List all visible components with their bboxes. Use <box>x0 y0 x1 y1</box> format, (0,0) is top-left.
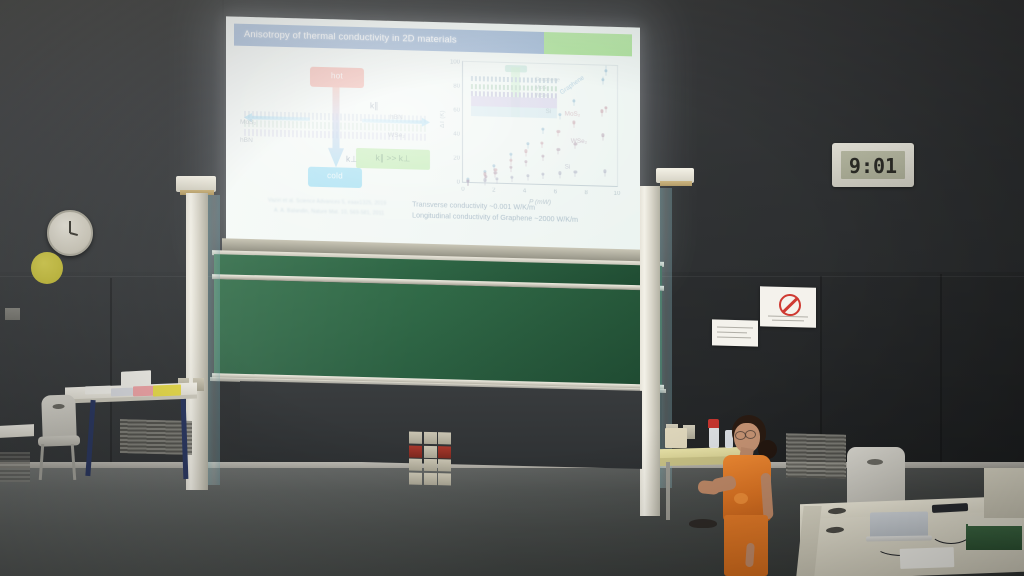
chart-y-tick: 0 <box>443 179 460 185</box>
chart-data-point <box>558 113 561 116</box>
presenter-hand-right <box>745 543 755 567</box>
socket[interactable] <box>409 472 422 484</box>
cold-label: cold <box>308 171 362 181</box>
chart-data-point <box>511 176 514 179</box>
chart-data-point <box>572 99 575 102</box>
chart-x-tick: 8 <box>585 190 588 196</box>
wall-seam <box>222 0 224 260</box>
socket[interactable] <box>424 445 437 457</box>
left-chair-back <box>41 394 77 441</box>
sign-text-line <box>717 332 747 334</box>
socket[interactable] <box>409 432 422 444</box>
k-relation-box: k∥ >> k⊥ <box>356 148 430 170</box>
sign-text-line <box>768 315 808 317</box>
projection-screen: Anisotropy of thermal conductivity in 2D… <box>226 16 640 255</box>
digital-clock-face: 9:01 <box>841 151 905 179</box>
green-chalkboard-main <box>214 279 662 387</box>
wall-small-box <box>5 308 20 320</box>
socket[interactable] <box>438 459 451 471</box>
digital-wall-clock: 9:01 <box>832 143 914 187</box>
socket-red[interactable] <box>409 445 422 457</box>
yellow-desk-leg <box>666 462 670 520</box>
k-relation-label: k∥ >> k⊥ <box>356 152 430 165</box>
inset-label-mos2: MoS₂ <box>535 85 549 91</box>
chart-data-point <box>557 148 560 151</box>
side-shelf <box>984 468 1024 518</box>
chart-data-point <box>509 159 512 162</box>
chart-y-tick: 40 <box>443 131 460 137</box>
material-label-wse2: WSe₂ <box>388 132 405 139</box>
sign-text-line <box>772 320 804 322</box>
chart-data-point <box>605 69 608 72</box>
chair-handle-hole <box>53 404 65 409</box>
chart-data-point <box>557 130 560 133</box>
paper-tray-grey <box>111 388 133 397</box>
chart-data-point <box>541 173 544 176</box>
socket[interactable] <box>424 459 437 471</box>
presenter <box>690 415 800 576</box>
presenter-hand-left <box>697 480 720 495</box>
inset-label-graphene: Graphene <box>535 77 560 84</box>
wall-yellow-disc <box>31 252 63 284</box>
chart-series-label-wse: WSe₂ <box>571 138 587 145</box>
chart-data-point <box>605 106 608 109</box>
screen-column-trim-right <box>660 181 692 186</box>
inset-silicon-layer: Si <box>471 106 557 118</box>
chart-series-label-si: Si <box>565 163 571 170</box>
chart-y-tick: 20 <box>443 155 460 161</box>
chart-data-point <box>541 127 544 130</box>
left-table-secondary <box>0 424 34 438</box>
chart-data-point <box>558 171 561 174</box>
chart-data-point <box>466 180 469 183</box>
chart-data-point <box>603 170 606 173</box>
desk-papers <box>900 547 955 569</box>
inset-label-wse2: WSe₂ <box>535 93 549 99</box>
chart-series-label-graphene: Graphene <box>559 74 586 96</box>
chair-handle-hole <box>867 459 883 465</box>
chart-data-point <box>600 110 603 113</box>
socket[interactable] <box>424 432 437 444</box>
laptop-screen[interactable] <box>870 511 928 538</box>
socket-red[interactable] <box>438 446 451 458</box>
folder-yellow <box>153 385 181 397</box>
chart-data-point <box>540 142 543 145</box>
presenter-glasses <box>745 430 756 439</box>
chart-data-point <box>574 171 577 174</box>
chart-x-tick: 4 <box>523 188 526 194</box>
chart-x-tick: 0 <box>461 187 464 193</box>
wall-seam <box>940 274 942 466</box>
hot-source-box: hot <box>310 67 364 88</box>
wall-vent-corner <box>0 452 30 482</box>
sign-text-line <box>717 327 753 329</box>
chart-x-tick: 6 <box>554 189 557 195</box>
presenter-shoe <box>689 519 717 528</box>
chart-data-point <box>541 155 544 158</box>
chart-x-tick: 10 <box>614 191 621 197</box>
chart-inset-schematic: Si Graphene MoS₂ WSe₂ <box>469 66 561 122</box>
inset-si-label: Si <box>546 109 551 115</box>
chart-y-tick: 100 <box>443 59 460 65</box>
wall-socket-grid[interactable] <box>409 432 451 485</box>
paper-stack-white <box>85 386 111 395</box>
chart-data-point <box>572 121 575 124</box>
material-label-mos2: MoS₂ <box>240 119 256 126</box>
analog-wall-clock <box>47 210 93 256</box>
socket[interactable] <box>424 472 437 484</box>
chart-data-point <box>602 78 605 81</box>
chart-data-point <box>602 134 605 137</box>
material-label-hbn-right: hBN <box>390 114 403 121</box>
no-smoking-sign <box>760 286 816 327</box>
hot-label: hot <box>310 71 364 81</box>
chart-data-point <box>494 171 497 174</box>
chart-plot-area: Si Graphene MoS₂ WSe₂ ΔT (K) P (mW) 0246… <box>462 61 618 187</box>
socket[interactable] <box>438 432 451 444</box>
k-parallel-label: k∥ <box>370 100 379 111</box>
slide-header-green-band <box>544 32 632 56</box>
chart-data-point <box>525 160 528 163</box>
chart-data-point <box>525 149 528 152</box>
screen-support-column-right <box>640 186 660 516</box>
desk-paper-stack <box>665 428 687 448</box>
lecture-hall-scene: Anisotropy of thermal conductivity in 2D… <box>0 0 1024 576</box>
screen-column-glass-left <box>208 195 220 485</box>
chart-data-point <box>509 166 512 169</box>
socket[interactable] <box>409 459 422 471</box>
chart-y-tick: 60 <box>443 107 460 113</box>
presenter-knot-detail <box>734 493 748 504</box>
no-smoking-icon <box>779 294 801 317</box>
cold-sink-box: cold <box>308 167 362 188</box>
clock-hour-hand <box>70 232 78 236</box>
sign-text-line <box>717 337 751 339</box>
chart-data-point <box>526 142 529 145</box>
thermal-conductivity-chart: Si Graphene MoS₂ WSe₂ ΔT (K) P (mW) 0246… <box>438 56 624 213</box>
chart-data-point <box>509 153 512 156</box>
socket[interactable] <box>438 473 451 485</box>
presenter-arm-right <box>760 473 773 520</box>
digital-clock-time: 9:01 <box>841 154 905 178</box>
chart-data-point <box>495 177 498 180</box>
wall-seam <box>110 278 112 464</box>
green-binder <box>966 524 1022 550</box>
chart-series-label-mos: MoS₂ <box>565 110 581 117</box>
chart-x-tick: 2 <box>492 188 495 194</box>
material-label-hbn: hBN <box>240 137 253 144</box>
chart-y-tick: 80 <box>443 83 460 89</box>
wall-info-sign <box>712 319 758 346</box>
chart-data-point <box>526 174 529 177</box>
anisotropy-schematic: hot cold k∥ k⊥ MoS₂ WSe₂ hBN hBN k∥ >> k… <box>238 53 434 208</box>
